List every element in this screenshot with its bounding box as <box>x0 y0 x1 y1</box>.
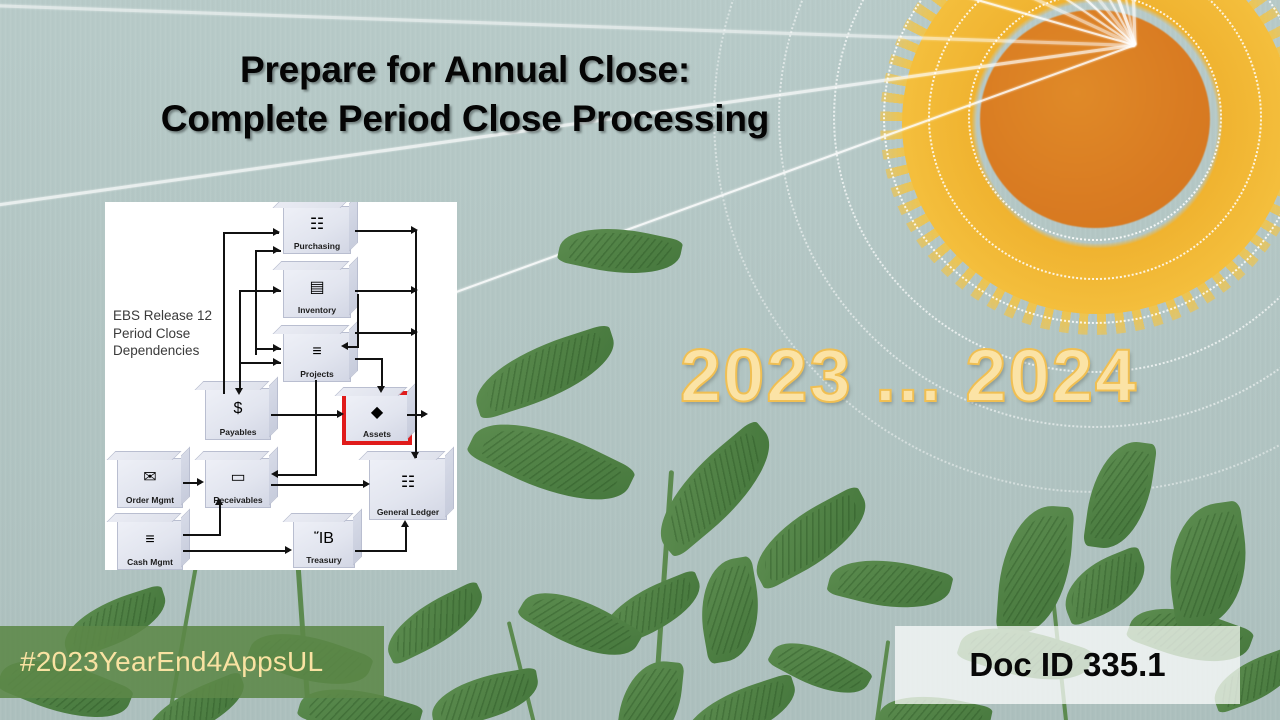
node-side-face <box>269 377 278 438</box>
leaf-11 <box>1054 545 1157 627</box>
diagram-connector-2 <box>223 232 225 394</box>
diagram-connector-20 <box>355 290 417 292</box>
diagram-connector-39 <box>271 484 367 486</box>
title-line-2: Complete Period Close Processing <box>0 95 930 144</box>
node-label: Payables <box>206 427 270 437</box>
node-label: Inventory <box>284 305 350 315</box>
diagram-node-projects: ≡Projects <box>283 332 351 382</box>
diagram-connector-41 <box>183 534 219 536</box>
diagram-arrowhead-26 <box>411 328 418 336</box>
diagram-node-treasury: ἽBTreasury <box>293 520 355 568</box>
node-label: Order Mgmt <box>118 495 182 505</box>
node-top-face <box>273 325 350 334</box>
ebs-period-close-dependency-diagram: EBS Release 12 Period Close Dependencies… <box>105 202 457 570</box>
diagram-connector-16 <box>355 230 417 232</box>
node-top-face <box>283 513 354 522</box>
diagram-arrowhead-3 <box>273 228 280 236</box>
diagram-arrowhead-29 <box>377 386 385 393</box>
leaf-22 <box>766 627 873 709</box>
diagram-arrowhead-48 <box>401 520 409 527</box>
diagram-connector-35 <box>275 474 317 476</box>
node-label: Purchasing <box>284 241 350 251</box>
sun-burst-rays <box>880 0 1280 335</box>
node-label: Treasury <box>294 555 354 565</box>
diagram-node-order-mgmt: ✉Order Mgmt <box>117 458 183 508</box>
diagram-arrowhead-43 <box>215 498 223 505</box>
diagram-arrowhead-33 <box>421 410 428 418</box>
plant-stem-3 <box>651 470 674 720</box>
diagram-caption-line-3: Dependencies <box>113 342 233 360</box>
node-label: Projects <box>284 369 350 379</box>
node-label: General Ledger <box>370 507 446 517</box>
leaf-30 <box>1083 436 1158 553</box>
node-side-face <box>181 509 190 568</box>
assets-icon: ◆ <box>371 405 383 421</box>
diagram-connector-27 <box>355 358 383 360</box>
leaf-9 <box>826 546 954 622</box>
node-top-face <box>359 451 446 460</box>
cash-mgmt-icon: ≡ <box>145 532 154 548</box>
leaf-2 <box>557 216 684 286</box>
diagram-arrowhead-40 <box>363 480 370 488</box>
diagram-arrowhead-15 <box>235 388 243 395</box>
doc-id-text: Doc ID 335.1 <box>969 646 1165 684</box>
diagram-caption-line-2: Period Close <box>113 325 233 343</box>
leaf-1 <box>465 323 624 421</box>
leaf-5 <box>465 400 637 525</box>
leaf-17 <box>376 580 493 666</box>
leaf-23 <box>427 667 543 720</box>
node-top-face <box>107 513 182 522</box>
diagram-connector-46 <box>355 550 407 552</box>
leaf-8 <box>741 485 880 592</box>
receivables-icon: ▭ <box>230 470 245 486</box>
diagram-connector-47 <box>405 524 407 552</box>
order-mgmt-icon: ✉ <box>143 470 156 486</box>
diagram-arrowhead-19 <box>411 452 419 459</box>
slide-canvas: Prepare for Annual Close: Complete Perio… <box>0 0 1280 720</box>
node-side-face <box>445 447 454 518</box>
diagram-node-purchasing: ☷Purchasing <box>283 206 351 254</box>
diagram-arrowhead-21 <box>411 286 418 294</box>
treasury-icon: ἽB <box>314 531 334 547</box>
node-label: Assets <box>346 429 408 439</box>
diagram-arrowhead-8 <box>273 286 280 294</box>
node-top-face <box>107 451 182 460</box>
diagram-arrowhead-45 <box>285 546 292 554</box>
hashtag-text: #2023YearEnd4AppsUL <box>0 646 323 678</box>
purchasing-icon: ☷ <box>310 217 324 233</box>
inventory-icon: ▤ <box>309 280 324 296</box>
diagram-connector-28 <box>381 358 383 388</box>
diagram-caption-line-1: EBS Release 12 <box>113 307 233 325</box>
node-top-face <box>335 387 408 396</box>
diagram-node-inventory: ▤Inventory <box>283 268 351 318</box>
doc-id-badge: Doc ID 335.1 <box>895 626 1240 704</box>
diagram-connector-44 <box>183 550 289 552</box>
payables-icon: $ <box>234 401 243 417</box>
node-side-face <box>353 509 362 566</box>
diagram-connector-42 <box>219 502 221 536</box>
leaf-10 <box>996 503 1075 638</box>
diagram-node-payables: $Payables <box>205 388 271 440</box>
diagram-connector-30 <box>271 414 341 416</box>
node-side-face <box>181 447 190 506</box>
general-ledger-icon: ☷ <box>401 475 415 491</box>
diagram-node-cash-mgmt: ≡Cash Mgmt <box>117 520 183 570</box>
year-range-text: 2023 ... 2024 <box>680 333 1138 418</box>
diagram-arrowhead-31 <box>337 410 344 418</box>
node-top-face <box>195 451 270 460</box>
diagram-arrowhead-24 <box>341 342 348 350</box>
leaf-29 <box>692 556 768 665</box>
diagram-arrowhead-38 <box>197 478 204 486</box>
hashtag-banner: #2023YearEnd4AppsUL <box>0 626 384 698</box>
node-top-face <box>273 261 350 270</box>
sun-ray-6 <box>505 0 1135 46</box>
projects-icon: ≡ <box>312 344 321 360</box>
sun-ray-1 <box>0 2 1135 47</box>
plant-stem-5 <box>507 621 537 720</box>
diagram-node-general-ledger: ☷General Ledger <box>369 458 447 520</box>
diagram-arrowhead-11 <box>273 344 280 352</box>
page-title: Prepare for Annual Close: Complete Perio… <box>0 46 930 144</box>
title-line-1: Prepare for Annual Close: <box>240 49 690 90</box>
diagram-arrowhead-36 <box>271 470 278 478</box>
sun-dotted-arc-1 <box>968 0 1222 241</box>
leaf-21 <box>676 673 804 720</box>
leaf-13 <box>1160 500 1256 630</box>
leaf-28 <box>615 657 684 720</box>
node-label: Cash Mgmt <box>118 557 182 567</box>
diagram-connector-25 <box>355 332 417 334</box>
plant-stem-6 <box>874 640 890 720</box>
leaf-16 <box>516 573 644 675</box>
node-top-face <box>273 202 350 208</box>
diagram-node-assets: ◆Assets <box>343 392 411 444</box>
diagram-connector-34 <box>315 380 317 476</box>
node-top-face <box>195 381 270 390</box>
diagram-arrowhead-13 <box>273 358 280 366</box>
diagram-connector-6 <box>255 250 257 355</box>
sun-dotted-arc-3 <box>883 0 1280 324</box>
diagram-arrowhead-5 <box>273 246 280 254</box>
diagram-connector-1 <box>223 232 279 234</box>
sun-halo <box>902 0 1280 314</box>
diagram-connector-22 <box>357 294 359 346</box>
leaf-15 <box>592 569 710 651</box>
leaf-6 <box>639 419 791 560</box>
diagram-caption: EBS Release 12 Period Close Dependencies <box>113 307 233 360</box>
diagram-connector-18 <box>415 230 417 458</box>
node-side-face <box>349 202 358 252</box>
